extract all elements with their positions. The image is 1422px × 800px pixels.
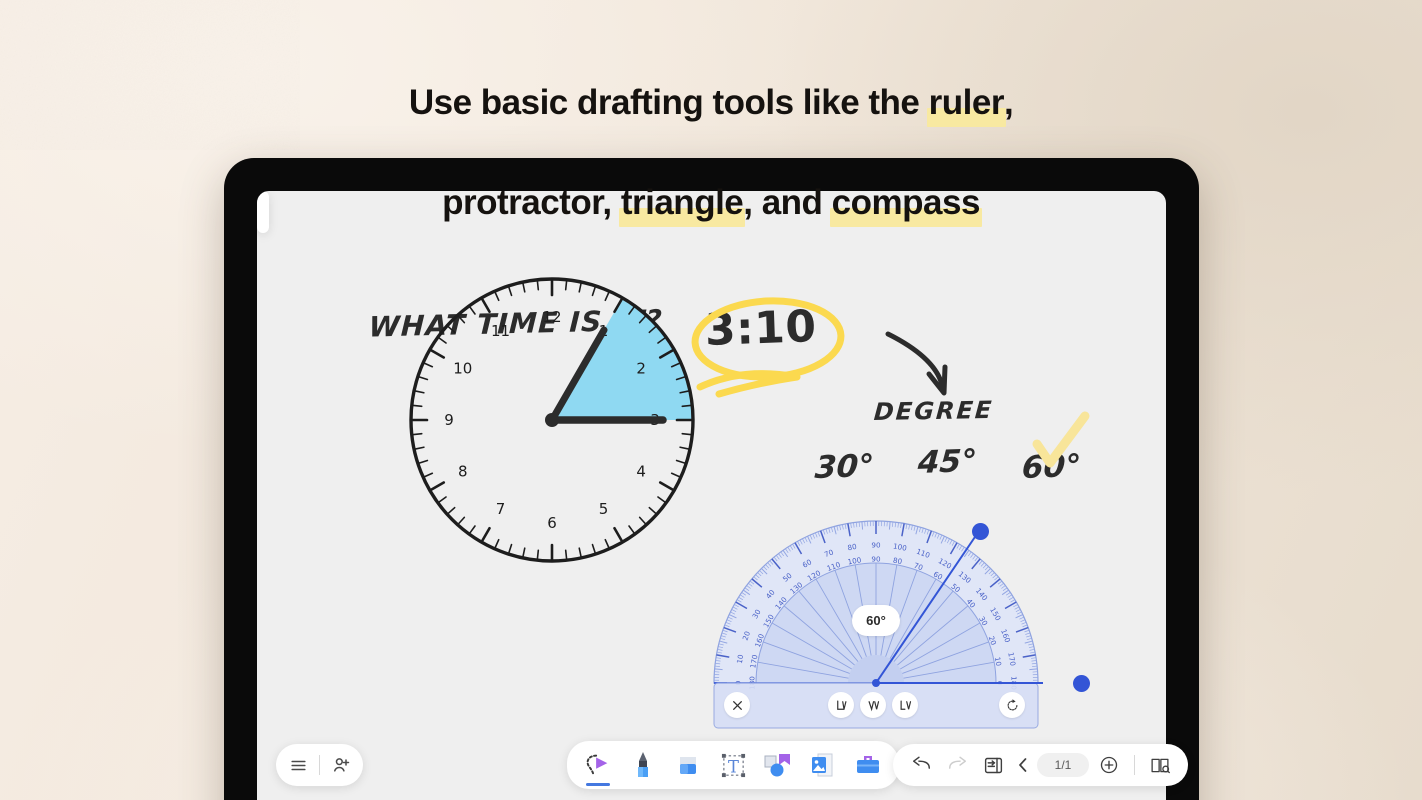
tool-lasso[interactable] <box>579 745 617 785</box>
page-settings-button[interactable] <box>977 749 1009 781</box>
eraser-icon <box>675 751 701 779</box>
svg-text:11: 11 <box>491 322 510 340</box>
headline-highlight-ruler: ruler <box>929 78 1004 128</box>
svg-text:7: 7 <box>496 500 506 518</box>
nav-bar-divider <box>1134 755 1135 775</box>
chevron-left-icon <box>1016 757 1030 773</box>
headline-highlight-compass: compass <box>832 178 980 228</box>
svg-text:T: T <box>728 757 739 776</box>
menu-button[interactable] <box>282 749 314 781</box>
tool-shapes[interactable] <box>759 745 797 785</box>
pen-icon <box>630 750 656 780</box>
svg-text:12: 12 <box>542 308 561 326</box>
redo-icon <box>947 756 968 775</box>
left-bar-divider <box>319 755 320 775</box>
tool-toolbox[interactable] <box>849 745 887 785</box>
tool-text[interactable]: T <box>714 745 752 785</box>
prev-page-button[interactable] <box>1013 749 1033 781</box>
angle-right-icon <box>898 698 913 713</box>
lasso-icon <box>583 751 613 779</box>
protractor-handle-baseline[interactable] <box>1073 675 1090 692</box>
headline-text-plain: Use basic drafting tools like the <box>409 83 929 122</box>
rotate-icon <box>1005 698 1020 713</box>
svg-text:90: 90 <box>871 541 881 550</box>
navigation-bar: 1/1 <box>893 744 1188 786</box>
add-page-button[interactable] <box>1093 749 1125 781</box>
headline-highlight-triangle: triangle <box>621 178 743 228</box>
undo-button[interactable] <box>905 749 937 781</box>
tool-pen[interactable] <box>624 745 662 785</box>
svg-text:9: 9 <box>444 411 454 429</box>
headline-text-protractor: protractor, <box>442 183 621 222</box>
yellow-circle-annotation <box>693 297 843 394</box>
svg-text:5: 5 <box>599 500 609 518</box>
tablet-screen: WHAT TIME IS IT? 3:10 DEGREE 30° 45° 60°… <box>257 191 1166 800</box>
text-icon: T <box>720 752 747 779</box>
tool-eraser[interactable] <box>669 745 707 785</box>
page-settings-icon <box>983 755 1004 776</box>
protractor-handle-ray[interactable] <box>972 523 989 540</box>
svg-text:2: 2 <box>636 360 646 378</box>
main-toolbar: T <box>567 741 899 789</box>
curved-arrow-annotation <box>888 334 945 393</box>
add-person-button[interactable] <box>325 749 357 781</box>
svg-text:90: 90 <box>871 555 881 564</box>
toolbox-icon <box>854 752 882 778</box>
left-controls-bar <box>276 744 363 786</box>
clock-widget: 121234567891011 <box>411 279 693 561</box>
clock-shaded-sector <box>552 298 693 421</box>
clock-center-hub <box>545 413 559 427</box>
page-overview-button[interactable] <box>1144 749 1176 781</box>
page-overview-icon <box>1149 755 1171 776</box>
svg-text:4: 4 <box>636 463 646 481</box>
protractor-angle-readout: 60° <box>852 605 900 636</box>
angle-left-icon <box>834 698 849 713</box>
protractor-vertex <box>872 679 880 687</box>
tool-image[interactable] <box>804 745 842 785</box>
page-title: Use basic drafting tools like the ruler,… <box>0 28 1422 228</box>
svg-text:10: 10 <box>453 360 472 378</box>
protractor-tool[interactable]: 0180101702016030150401405013060120701108… <box>709 513 1043 733</box>
close-icon <box>731 699 744 712</box>
undo-icon <box>911 756 932 775</box>
protractor-angle-center-button[interactable] <box>860 692 886 718</box>
tablet-device: WHAT TIME IS IT? 3:10 DEGREE 30° 45° 60°… <box>224 158 1199 800</box>
protractor-close-button[interactable] <box>724 692 750 718</box>
svg-text:8: 8 <box>458 463 468 481</box>
protractor-rotate-button[interactable] <box>999 692 1025 718</box>
image-icon <box>809 751 837 779</box>
shapes-icon <box>763 751 793 779</box>
angle-center-icon <box>866 698 881 713</box>
plus-circle-icon <box>1099 755 1119 775</box>
headline-line-2: protractor, triangle, and compass <box>442 183 980 222</box>
protractor-angle-right-button[interactable] <box>892 692 918 718</box>
headline-line-1: Use basic drafting tools like the ruler, <box>409 83 1013 122</box>
menu-icon <box>289 756 308 775</box>
protractor-angle-left-button[interactable] <box>828 692 854 718</box>
yellow-check-annotation <box>1037 416 1085 463</box>
add-person-icon <box>331 755 351 775</box>
redo-button[interactable] <box>941 749 973 781</box>
page-indicator[interactable]: 1/1 <box>1037 753 1089 777</box>
headline-text-and: , and <box>743 183 831 222</box>
svg-text:6: 6 <box>547 514 557 532</box>
